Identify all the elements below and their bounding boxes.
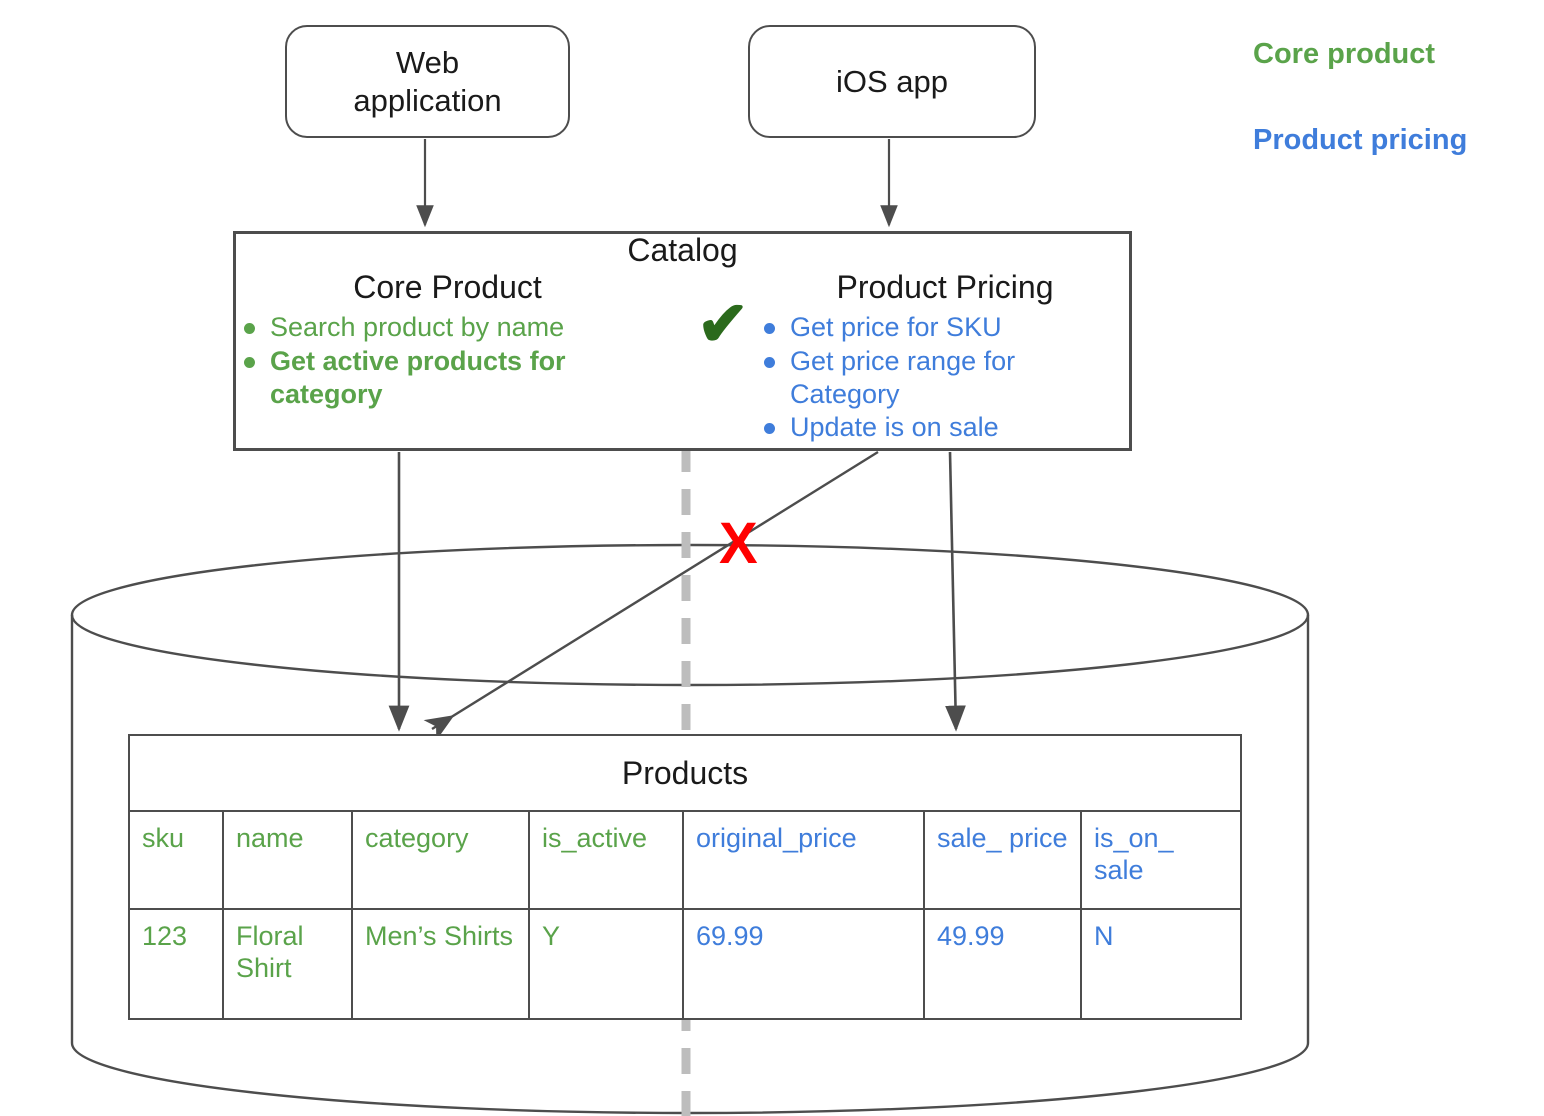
capability-list-core-product: Search product by name Get active produc…: [240, 311, 655, 410]
table-title-row: Products: [129, 735, 1241, 811]
catalog-service-title: Catalog: [233, 234, 1132, 266]
cell-sale-price: 49.99: [924, 909, 1081, 1019]
subdomain-title-product-pricing: Product Pricing: [760, 270, 1130, 305]
table-header-row: sku name category is_active original_pri…: [129, 811, 1241, 909]
legend-item-product-pricing: Product pricing: [1253, 124, 1467, 157]
bullet-icon: [764, 423, 775, 434]
bullet-icon: [244, 357, 255, 368]
capability-item[interactable]: Update is on sale: [760, 411, 1130, 444]
bullet-icon: [244, 323, 255, 334]
cell-sku: 123: [129, 909, 223, 1019]
subdomain-core-product: Core Product Search product by name Get …: [240, 270, 655, 411]
capability-label: Update is on sale: [790, 412, 999, 442]
client-label-ios-app: iOS app: [836, 63, 948, 101]
cell-original-price: 69.99: [683, 909, 924, 1019]
capability-label: Get price range for Category: [790, 346, 1015, 409]
capability-list-product-pricing: Get price for SKU Get price range for Ca…: [760, 311, 1130, 444]
client-box-ios-app[interactable]: iOS app: [748, 25, 1036, 138]
x-mark-icon: X: [719, 515, 758, 573]
capability-label: Search product by name: [270, 312, 564, 342]
column-header-is-active: is_active: [529, 811, 683, 909]
column-header-sku: sku: [129, 811, 223, 909]
capability-item[interactable]: Get active products for category: [240, 345, 655, 410]
capability-item[interactable]: Get price range for Category: [760, 345, 1130, 410]
capability-item[interactable]: Get price for SKU: [760, 311, 1130, 344]
products-table: Products sku name category is_active ori…: [128, 734, 1242, 1020]
diagram-canvas: Core product Product pricing Web applica…: [0, 0, 1544, 1116]
cell-name: Floral Shirt: [223, 909, 352, 1019]
legend-item-core-product: Core product: [1253, 38, 1435, 71]
column-header-original-price: original_price: [683, 811, 924, 909]
cell-is-on-sale: N: [1081, 909, 1241, 1019]
cell-is-active: Y: [529, 909, 683, 1019]
column-header-category: category: [352, 811, 529, 909]
capability-item[interactable]: Search product by name: [240, 311, 655, 344]
check-mark-icon: ✔: [697, 294, 749, 356]
cell-category: Men’s Shirts: [352, 909, 529, 1019]
column-header-is-on-sale: is_on_ sale: [1081, 811, 1241, 909]
subdomain-title-core-product: Core Product: [240, 270, 655, 305]
bullet-icon: [764, 323, 775, 334]
column-header-name: name: [223, 811, 352, 909]
arrow-pricing-to-core-columns: [432, 452, 878, 729]
table-row: 123 Floral Shirt Men’s Shirts Y 69.99 49…: [129, 909, 1241, 1019]
column-header-sale-price: sale_ price: [924, 811, 1081, 909]
bullet-icon: [764, 357, 775, 368]
arrow-pricing-to-products: [950, 452, 956, 729]
client-label-web-application: Web application: [353, 44, 501, 120]
client-box-web-application[interactable]: Web application: [285, 25, 570, 138]
capability-label: Get active products for category: [270, 346, 566, 409]
subdomain-product-pricing: Product Pricing Get price for SKU Get pr…: [760, 270, 1130, 445]
capability-label: Get price for SKU: [790, 312, 1002, 342]
products-table-title: Products: [129, 735, 1241, 811]
